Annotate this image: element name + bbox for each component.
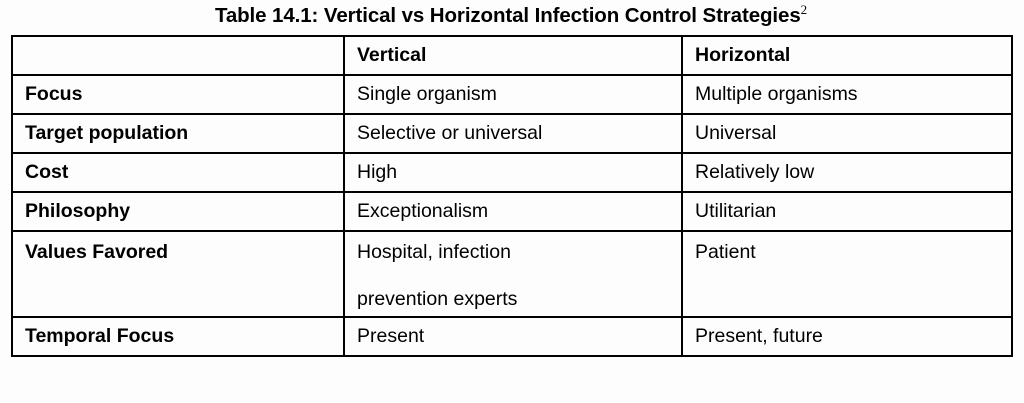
comparison-table: Vertical Horizontal Focus Single organis… <box>11 35 1013 357</box>
table-row: Philosophy Exceptionalism Utilitarian <box>12 192 1012 231</box>
table-row: Target population Selective or universal… <box>12 114 1012 153</box>
cell-values-favored-vertical-line2: prevention experts <box>357 290 681 310</box>
row-label-philosophy: Philosophy <box>12 192 344 231</box>
table-header-row: Vertical Horizontal <box>12 36 1012 75</box>
cell-temporal-focus-horizontal: Present, future <box>682 317 1012 356</box>
row-label-target-population: Target population <box>12 114 344 153</box>
cell-target-population-vertical: Selective or universal <box>344 114 682 153</box>
table-page: Table 14.1: Vertical vs Horizontal Infec… <box>0 0 1024 403</box>
cell-philosophy-horizontal: Utilitarian <box>682 192 1012 231</box>
row-label-focus: Focus <box>12 75 344 114</box>
page-title-text: Table 14.1: Vertical vs Horizontal Infec… <box>215 4 801 27</box>
table-row: Cost High Relatively low <box>12 153 1012 192</box>
row-label-temporal-focus: Temporal Focus <box>12 317 344 356</box>
table-row: Values Favored Hospital, infectionpreven… <box>12 231 1012 317</box>
table-row: Temporal Focus Present Present, future <box>12 317 1012 356</box>
cell-cost-vertical: High <box>344 153 682 192</box>
cell-values-favored-vertical-line1: Hospital, infection <box>357 241 511 263</box>
header-cell-vertical: Vertical <box>344 36 682 75</box>
cell-values-favored-horizontal: Patient <box>682 231 1012 317</box>
header-cell-blank <box>12 36 344 75</box>
cell-philosophy-vertical: Exceptionalism <box>344 192 682 231</box>
row-label-values-favored: Values Favored <box>12 231 344 317</box>
cell-focus-horizontal: Multiple organisms <box>682 75 1012 114</box>
page-title: Table 14.1: Vertical vs Horizontal Infec… <box>11 1 1011 31</box>
header-cell-horizontal: Horizontal <box>682 36 1012 75</box>
footnote-marker: 2 <box>801 2 807 17</box>
cell-focus-vertical: Single organism <box>344 75 682 114</box>
table-row: Focus Single organism Multiple organisms <box>12 75 1012 114</box>
row-label-cost: Cost <box>12 153 344 192</box>
cell-cost-horizontal: Relatively low <box>682 153 1012 192</box>
cell-target-population-horizontal: Universal <box>682 114 1012 153</box>
cell-temporal-focus-vertical: Present <box>344 317 682 356</box>
cell-values-favored-vertical: Hospital, infectionprevention experts <box>344 231 682 317</box>
